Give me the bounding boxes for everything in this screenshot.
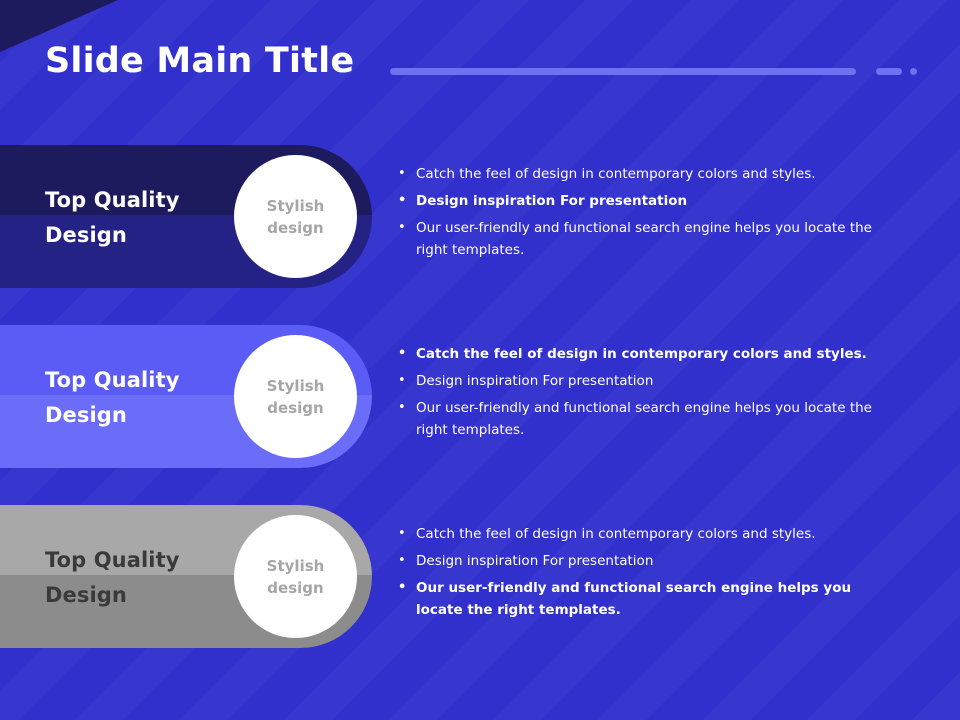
bullet-item: Our user-friendly and functional search … <box>392 577 902 621</box>
badge-line1: Stylish <box>267 195 325 217</box>
badge-line2: design <box>267 217 323 239</box>
feature-heading: Top QualityDesign <box>45 543 235 613</box>
feature-heading-line1: Top Quality <box>45 183 235 218</box>
feature-row: Top QualityDesignStylishdesignCatch the … <box>0 325 960 468</box>
feature-heading: Top QualityDesign <box>45 183 235 253</box>
badge-line1: Stylish <box>267 555 325 577</box>
title-rule-long <box>390 68 856 75</box>
bullet-item: Catch the feel of design in contemporary… <box>392 343 902 365</box>
feature-heading-line2: Design <box>45 578 235 613</box>
feature-row: Top QualityDesignStylishdesignCatch the … <box>0 505 960 648</box>
badge-line2: design <box>267 577 323 599</box>
title-rule-short <box>876 68 902 75</box>
bullet-list: Catch the feel of design in contemporary… <box>392 523 902 626</box>
bullet-list: Catch the feel of design in contemporary… <box>392 163 902 266</box>
feature-heading-line1: Top Quality <box>45 363 235 398</box>
title-block: Slide Main Title <box>45 40 354 82</box>
feature-heading-line1: Top Quality <box>45 543 235 578</box>
bullet-item: Our user-friendly and functional search … <box>392 397 902 441</box>
feature-heading-line2: Design <box>45 218 235 253</box>
title-rule-dot <box>910 68 917 75</box>
stylish-design-badge[interactable]: Stylishdesign <box>234 335 357 458</box>
bullet-item: Design inspiration For presentation <box>392 370 902 392</box>
slide-canvas: Slide Main Title Top QualityDesignStylis… <box>0 0 960 720</box>
badge-line1: Stylish <box>267 375 325 397</box>
feature-row: Top QualityDesignStylishdesignCatch the … <box>0 145 960 288</box>
badge-line2: design <box>267 397 323 419</box>
bullet-list: Catch the feel of design in contemporary… <box>392 343 902 446</box>
bullet-item: Catch the feel of design in contemporary… <box>392 163 902 185</box>
bullet-item: Our user-friendly and functional search … <box>392 217 902 261</box>
stylish-design-badge[interactable]: Stylishdesign <box>234 515 357 638</box>
page-title: Slide Main Title <box>45 40 354 82</box>
feature-heading-line2: Design <box>45 398 235 433</box>
bullet-item: Catch the feel of design in contemporary… <box>392 523 902 545</box>
stylish-design-badge[interactable]: Stylishdesign <box>234 155 357 278</box>
bullet-item: Design inspiration For presentation <box>392 550 902 572</box>
feature-heading: Top QualityDesign <box>45 363 235 433</box>
title-rule-group <box>390 68 917 75</box>
bullet-item: Design inspiration For presentation <box>392 190 902 212</box>
